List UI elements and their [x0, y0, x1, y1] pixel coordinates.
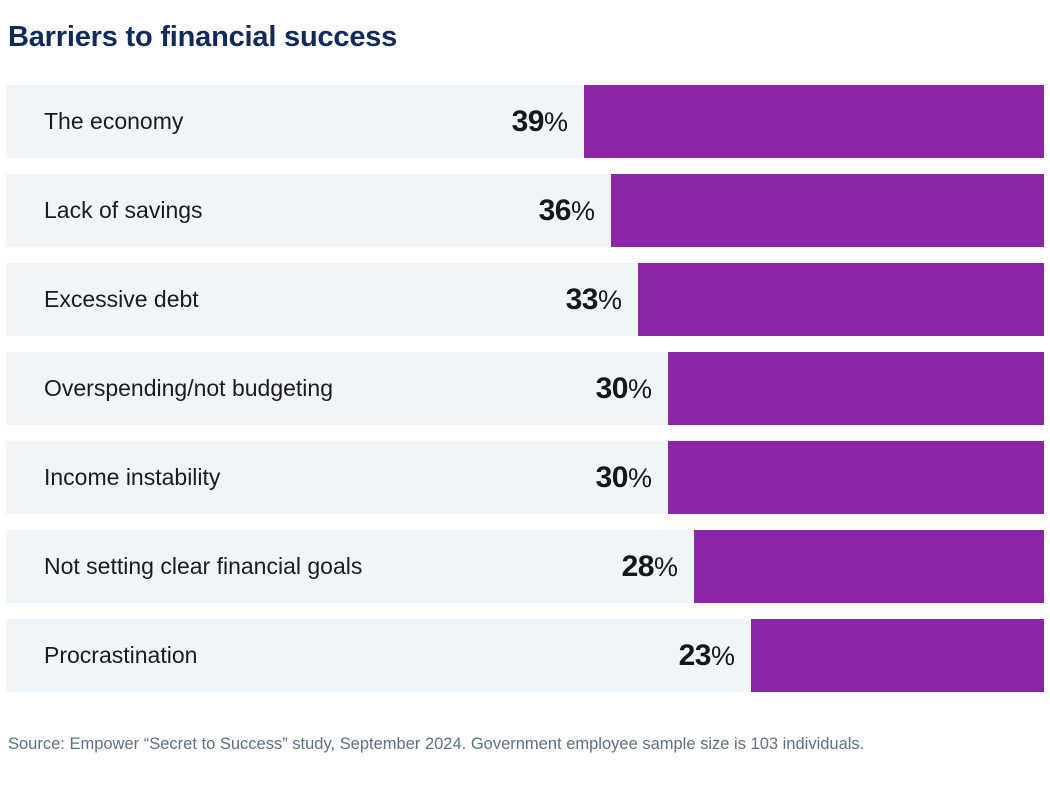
bar-value-label: 30% — [596, 441, 652, 514]
bar-category-label: Excessive debt — [44, 263, 199, 336]
table-row: Procrastination23% — [6, 619, 1044, 692]
bar-category-label: Overspending/not budgeting — [44, 352, 333, 425]
bar-value-number: 23 — [679, 639, 711, 672]
bar-value-percent-sign: % — [628, 463, 652, 493]
bar-value-number: 33 — [566, 283, 598, 316]
chart-page: Barriers to financial success The econom… — [0, 0, 1050, 790]
table-row: Lack of savings36% — [6, 174, 1044, 247]
bar-value-number: 30 — [596, 372, 628, 405]
bar-value-percent-sign: % — [571, 196, 595, 226]
table-row: The economy39% — [6, 85, 1044, 158]
bar-value-percent-sign: % — [598, 285, 622, 315]
table-row: Income instability30% — [6, 441, 1044, 514]
bar-segment — [611, 174, 1044, 247]
bar-category-label: Income instability — [44, 441, 220, 514]
bar-value-label: 23% — [679, 619, 735, 692]
bar-value-number: 30 — [596, 461, 628, 494]
bar-value-percent-sign: % — [654, 552, 678, 582]
bar-value-percent-sign: % — [711, 641, 735, 671]
table-row: Excessive debt33% — [6, 263, 1044, 336]
bar-value-label: 39% — [512, 85, 568, 158]
bar-value-percent-sign: % — [628, 374, 652, 404]
bar-segment — [694, 530, 1044, 603]
bar-chart-rows: The economy39%Lack of savings36%Excessiv… — [6, 85, 1044, 708]
bar-value-number: 28 — [622, 550, 654, 583]
bar-segment — [668, 352, 1044, 425]
bar-segment — [751, 619, 1044, 692]
bar-category-label: Procrastination — [44, 619, 197, 692]
bar-segment — [584, 85, 1044, 158]
source-note: Source: Empower “Secret to Success” stud… — [8, 733, 864, 755]
bar-category-label: Lack of savings — [44, 174, 203, 247]
bar-segment — [668, 441, 1044, 514]
bar-category-label: The economy — [44, 85, 183, 158]
table-row: Overspending/not budgeting30% — [6, 352, 1044, 425]
bar-value-label: 36% — [539, 174, 595, 247]
bar-value-label: 30% — [596, 352, 652, 425]
bar-value-label: 28% — [622, 530, 678, 603]
table-row: Not setting clear financial goals28% — [6, 530, 1044, 603]
bar-value-number: 39 — [512, 105, 544, 138]
bar-category-label: Not setting clear financial goals — [44, 530, 362, 603]
bar-value-percent-sign: % — [544, 107, 568, 137]
page-title: Barriers to financial success — [8, 19, 397, 55]
bar-value-number: 36 — [539, 194, 571, 227]
bar-segment — [638, 263, 1044, 336]
bar-value-label: 33% — [566, 263, 622, 336]
